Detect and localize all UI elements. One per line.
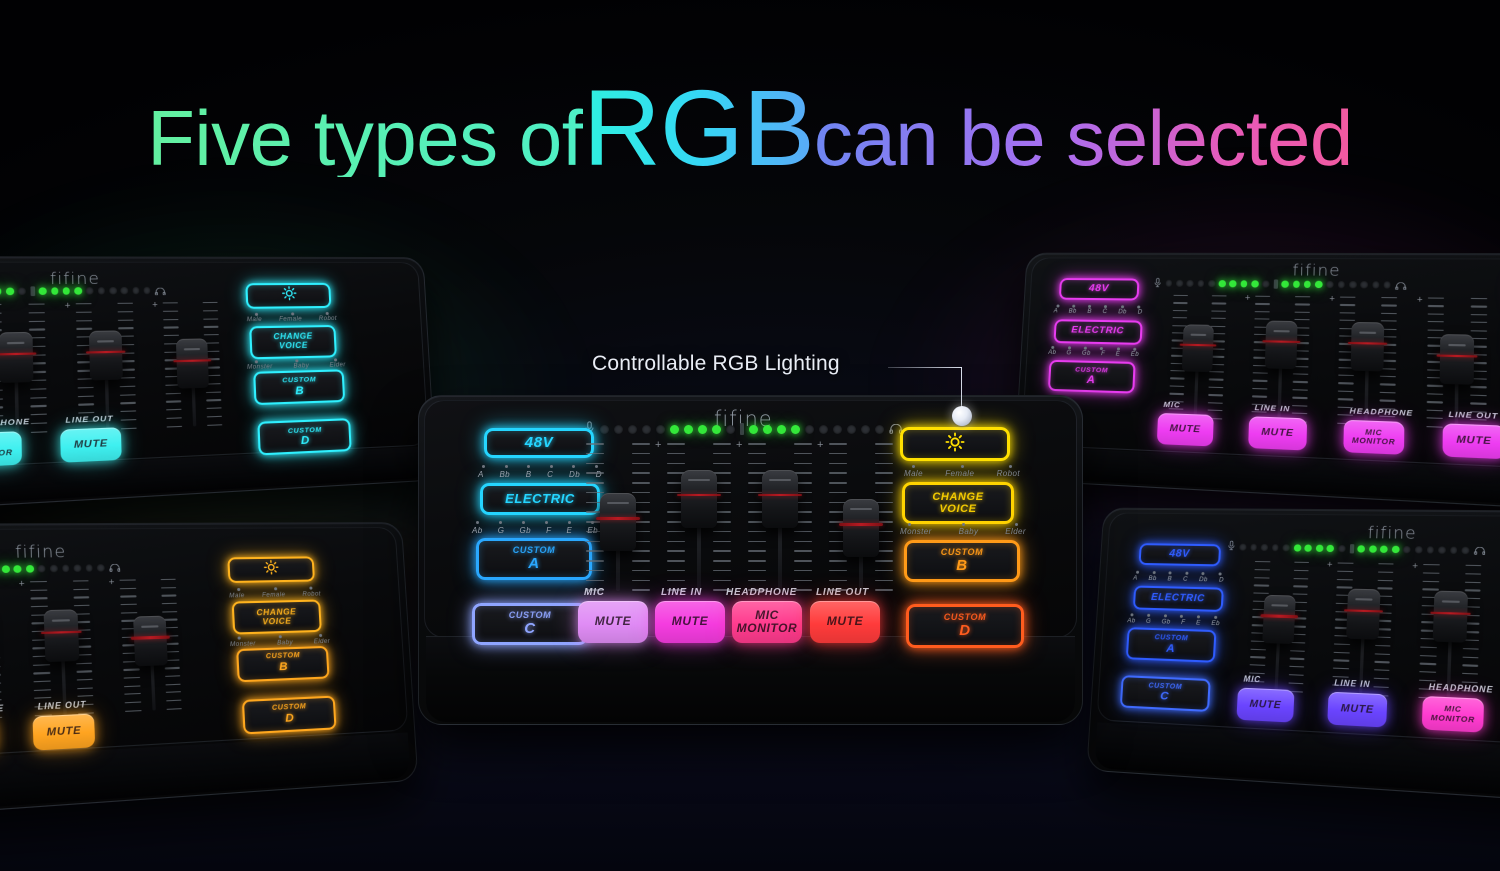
brightness-icon: [263, 559, 281, 581]
mute-button-3[interactable]: MUTE: [810, 601, 880, 643]
fader-plus-marker: +: [1327, 559, 1333, 569]
top-left-mixer[interactable]: fifine48VELECTRICCUSTOM AABbBCDbDAbGGbFE…: [0, 256, 437, 521]
callout-leader-line-horizontal: [888, 367, 962, 368]
led-segment: [1176, 280, 1183, 287]
led-segment: [1304, 281, 1311, 288]
led-segment: [1293, 281, 1300, 288]
custom-a-letter: A: [528, 556, 539, 573]
custom-d-button[interactable]: CUSTOM D: [906, 604, 1024, 648]
note-label: B: [1167, 575, 1172, 582]
led-segment: [614, 425, 623, 434]
mute-button-1[interactable]: MUTE: [1248, 416, 1307, 451]
led-meter: [584, 421, 903, 437]
voice-label: Monster: [230, 640, 256, 648]
fader-indicator-line: [677, 494, 721, 497]
led-divider: [740, 423, 744, 435]
voice-indicator-dots: [912, 465, 1012, 468]
brightness-icon: [280, 285, 298, 307]
custom-a-word: CUSTOM: [513, 546, 555, 556]
custom-b-word: CUSTOM: [266, 652, 301, 661]
fader-plus-marker: +: [1329, 293, 1335, 303]
channel-label: LINE IN: [1334, 678, 1370, 689]
led-segment: [600, 425, 609, 434]
mute-label: MUTE: [595, 615, 631, 628]
note-label: D: [1138, 310, 1143, 316]
led-segment: [875, 425, 884, 434]
note-label: G: [1146, 617, 1152, 624]
note-label: B: [526, 470, 532, 479]
device-front-face: [426, 636, 1075, 722]
led-segment: [1360, 281, 1368, 288]
note-indicator-dots: [476, 521, 594, 524]
led-segment: [833, 425, 842, 434]
led-segment: [791, 425, 800, 434]
fader-knob[interactable]: [0, 332, 33, 384]
note-label: C: [1183, 576, 1188, 583]
mute-label: MUTE: [74, 438, 108, 451]
custom-d-button[interactable]: CUSTOM D: [258, 419, 352, 456]
custom-c-word: CUSTOM: [1148, 682, 1182, 691]
mute-button-0[interactable]: MUTE: [1157, 413, 1214, 447]
led-segment: [656, 425, 665, 434]
note-label: Ab: [1048, 350, 1056, 356]
led-segment: [74, 287, 82, 294]
led-segment: [1294, 544, 1301, 551]
custom-a-word: CUSTOM: [1154, 634, 1188, 643]
led-segment: [847, 425, 856, 434]
note-label: G: [498, 526, 505, 535]
custom-a-word: CUSTOM: [1075, 366, 1108, 374]
custom-d-letter: D: [959, 623, 970, 640]
mute-label: MUTE: [1456, 435, 1491, 448]
note-label: D: [1219, 576, 1224, 583]
custom-b-button[interactable]: CUSTOM B: [904, 540, 1020, 582]
headphone-icon: [154, 284, 166, 298]
custom-d-button[interactable]: CUSTOM D: [241, 695, 337, 734]
voice-label: Monster: [247, 364, 273, 371]
mic-monitor-button[interactable]: MICMONITOR: [1422, 696, 1484, 733]
brand-logo: fifine: [15, 542, 67, 562]
fader-knob[interactable]: [1347, 589, 1381, 640]
led-segment: [1240, 280, 1247, 287]
fader-plus-marker: +: [1412, 560, 1418, 571]
note-label: Gb: [519, 526, 530, 535]
custom-b-letter: B: [295, 384, 305, 397]
led-segment: [805, 425, 814, 434]
led-segment: [132, 287, 140, 294]
fader-knob[interactable]: [1440, 334, 1474, 385]
change-voice-button[interactable]: CHANGE VOICE: [231, 600, 321, 635]
note-label: E: [1196, 619, 1201, 626]
led-segment: [50, 565, 58, 572]
custom-b-letter: B: [956, 558, 967, 575]
note-label: Db: [1199, 576, 1208, 583]
phantom-power-label: 48V: [525, 435, 554, 452]
led-segment: [1462, 547, 1470, 554]
led-segment: [698, 425, 707, 434]
led-segment: [763, 425, 772, 434]
led-segment: [1261, 544, 1268, 551]
mute-label: MUTE: [47, 725, 82, 739]
fader-indicator-line: [596, 517, 640, 520]
headline-emphasis: RGB: [583, 74, 814, 182]
voice-label: Male: [229, 591, 245, 599]
electric-label: ELECTRIC: [1071, 326, 1124, 338]
led-segment: [1349, 281, 1356, 288]
electric-label: ELECTRIC: [1151, 592, 1205, 604]
custom-c-button[interactable]: CUSTOM C: [1120, 675, 1211, 712]
fader-bank: +++: [0, 578, 201, 725]
change-voice-line-1: CHANGE: [932, 491, 983, 503]
voice-label: Baby: [277, 639, 293, 647]
brightness-icon: [944, 431, 966, 458]
led-segment: [85, 564, 93, 571]
led-divider: [1273, 280, 1278, 289]
mute-button-0[interactable]: MUTE: [578, 601, 648, 643]
led-segment: [1338, 281, 1345, 288]
note-label: C: [1102, 309, 1107, 315]
fader-knob[interactable]: [681, 470, 717, 528]
headphone-icon: [109, 561, 121, 575]
note-label: B: [1087, 309, 1092, 315]
fader-knob[interactable]: [44, 610, 79, 662]
led-segment: [1197, 280, 1204, 287]
led-divider: [1349, 544, 1354, 553]
led-segment: [1327, 545, 1334, 552]
note-label: Gb: [1082, 350, 1091, 356]
note-label: Bb: [1068, 309, 1076, 315]
led-segment: [86, 287, 94, 294]
custom-a-letter: A: [1166, 642, 1176, 655]
change-voice-line-2: VOICE: [279, 342, 308, 352]
led-segment: [726, 425, 735, 434]
custom-b-button[interactable]: CUSTOM B: [236, 645, 330, 681]
voice-label-row: MonsterBabyElder: [900, 527, 1026, 536]
led-meter: [1153, 277, 1407, 292]
led-segment: [1305, 545, 1312, 552]
led-segment: [1281, 281, 1288, 288]
top-right-mixer[interactable]: fifine48VELECTRICCUSTOM AABbBCDbDAbGGbFE…: [1013, 253, 1500, 520]
led-segment: [51, 288, 59, 295]
led-segment: [819, 425, 828, 434]
led-segment: [1358, 545, 1366, 552]
phantom-power-button[interactable]: 48V: [484, 428, 594, 458]
electric-button[interactable]: ELECTRIC: [1053, 319, 1142, 345]
headline-part-1: Five types of: [147, 99, 583, 177]
fader-knob[interactable]: [1182, 324, 1214, 372]
fader-plus-marker: +: [19, 578, 25, 589]
channel-label: LINE OUT: [1448, 409, 1498, 421]
custom-c-letter: C: [524, 621, 535, 638]
led-segment: [1272, 544, 1279, 551]
mic-monitor-button[interactable]: MICMONITOR: [732, 601, 802, 643]
change-voice-line-2: VOICE: [262, 617, 292, 627]
note-label: Bb: [1148, 575, 1157, 582]
voice-label: Baby: [293, 363, 309, 370]
fader-plus-marker: +: [1417, 294, 1423, 305]
led-segment: [1403, 546, 1411, 553]
voice-label-row: MaleFemaleRobot: [904, 469, 1020, 478]
led-segment: [1283, 544, 1290, 551]
headphone-icon: [1473, 544, 1485, 558]
voice-indicator-dots: [908, 523, 1018, 526]
note-label: A: [1133, 575, 1138, 582]
mute-label: MUTE: [1169, 424, 1201, 436]
fader-indicator-line: [758, 494, 802, 497]
led-segment: [2, 565, 10, 572]
mic-icon: [1227, 540, 1236, 553]
note-label: Bb: [499, 470, 510, 479]
note-label-row: AbGGbFEEb: [472, 526, 598, 535]
voice-label: Robot: [997, 469, 1020, 478]
voice-label: Male: [904, 469, 923, 478]
fader-knob[interactable]: [1263, 595, 1296, 645]
led-segment: [1165, 280, 1172, 287]
note-label: E: [567, 526, 573, 535]
led-segment: [1239, 544, 1246, 551]
fader-indicator-line: [839, 523, 883, 526]
mic-monitor-line-2: MONITOR: [1431, 712, 1475, 724]
headline-part-2: can be selected: [814, 99, 1353, 177]
mic-monitor-button[interactable]: MICMONITOR: [1343, 420, 1404, 455]
fader-plus-marker: +: [65, 300, 71, 311]
mute-label: MUTE: [1261, 427, 1294, 440]
led-segment: [1438, 547, 1446, 554]
led-segment: [14, 565, 22, 572]
change-voice-button[interactable]: CHANGE VOICE: [902, 482, 1014, 524]
led-segment: [1380, 546, 1388, 553]
voice-label: Robot: [319, 316, 337, 322]
voice-label: Male: [247, 317, 263, 323]
channel-label: MIC: [1163, 400, 1180, 410]
custom-d-letter: D: [285, 712, 295, 726]
annotation-dot-icon: [952, 406, 972, 426]
rgb-brightness-button[interactable]: [245, 283, 331, 309]
custom-c-letter: C: [1160, 690, 1170, 703]
note-label: Eb: [1131, 352, 1140, 358]
voice-label: Female: [279, 316, 302, 322]
led-segment: [1392, 546, 1400, 553]
rgb-brightness-button[interactable]: [227, 556, 315, 583]
led-segment: [777, 425, 786, 434]
note-label: Eb: [1211, 619, 1220, 626]
fader-knob[interactable]: [89, 330, 123, 381]
led-segment: [39, 288, 47, 295]
fader-knob[interactable]: [762, 470, 798, 528]
custom-d-word: CUSTOM: [288, 426, 322, 435]
note-label: F: [1101, 351, 1105, 357]
led-segment: [670, 425, 679, 434]
mic-monitor-line-2: MONITOR: [0, 447, 13, 459]
mic-monitor-line-2: MONITOR: [1352, 435, 1396, 447]
led-segment: [1208, 280, 1215, 287]
led-segment: [749, 425, 758, 434]
fader-knob[interactable]: [176, 339, 209, 389]
led-segment: [1229, 280, 1236, 287]
mute-label: MUTE: [827, 615, 863, 628]
note-label: Db: [1118, 309, 1127, 315]
phantom-power-button[interactable]: 48V: [1139, 543, 1222, 566]
note-label: F: [546, 526, 551, 535]
fader-knob[interactable]: [134, 615, 168, 666]
voice-label: Monster: [900, 527, 932, 536]
custom-c-word: CUSTOM: [509, 611, 551, 621]
led-segment: [1316, 545, 1323, 552]
voice-label: Elder: [1005, 527, 1026, 536]
mute-label: MUTE: [1341, 703, 1374, 716]
led-segment: [0, 288, 2, 295]
bottom-right-mixer[interactable]: fifine48VELECTRICCUSTOM ACUSTOM CABbBCDb…: [1086, 508, 1500, 820]
mic-monitor-line-1: MIC: [755, 608, 779, 622]
led-meter: [0, 284, 166, 300]
mute-label: MUTE: [672, 615, 708, 628]
led-segment: [1450, 547, 1458, 554]
callout-label: Controllable RGB Lighting: [592, 352, 840, 376]
custom-a-letter: A: [1086, 374, 1095, 387]
led-segment: [62, 565, 70, 572]
change-voice-button[interactable]: CHANGE VOICE: [249, 325, 338, 359]
fader-plus-marker: +: [108, 576, 114, 587]
led-segment: [642, 425, 651, 434]
electric-button[interactable]: ELECTRIC: [1133, 585, 1224, 612]
led-segment: [1383, 281, 1391, 288]
rgb-brightness-button[interactable]: [900, 427, 1010, 461]
fader-plus-marker: +: [152, 299, 158, 310]
headphone-icon: [1395, 278, 1407, 292]
mute-button-3[interactable]: MUTE: [1442, 423, 1500, 459]
note-label: Ab: [472, 526, 483, 535]
note-label-row: ABbBCDbD: [478, 470, 602, 479]
custom-a-button[interactable]: CUSTOM A: [476, 538, 592, 580]
led-segment: [1315, 281, 1322, 288]
note-label: Ab: [1127, 617, 1136, 624]
voice-label: Elder: [329, 362, 345, 369]
fader-knob[interactable]: [843, 499, 879, 557]
channel-label: LINE OUT: [816, 587, 869, 598]
fader-plus-marker: +: [1245, 292, 1251, 302]
fader-bank: +++: [586, 443, 898, 591]
led-segment: [97, 564, 105, 571]
led-segment: [74, 565, 82, 572]
led-segment: [1369, 546, 1377, 553]
note-label: A: [1054, 309, 1059, 315]
led-segment: [1426, 546, 1434, 553]
led-segment: [1415, 546, 1423, 553]
custom-d-letter: D: [301, 434, 311, 447]
center-mixer[interactable]: fifine48VELECTRICCUSTOM ACUSTOM CABbBCDb…: [418, 395, 1083, 725]
custom-b-button[interactable]: CUSTOM B: [253, 370, 345, 405]
led-segment: [18, 288, 26, 295]
led-segment: [712, 425, 721, 434]
led-segment: [1372, 281, 1380, 288]
note-label: E: [1116, 351, 1121, 357]
fader-scale: [0, 582, 3, 719]
channel-label: LINE OUT: [65, 414, 113, 426]
note-label: Gb: [1161, 618, 1170, 625]
led-segment: [1251, 281, 1258, 288]
fader-knob[interactable]: [1351, 322, 1384, 372]
led-segment: [38, 565, 46, 572]
led-segment: [1187, 280, 1194, 287]
led-segment: [861, 425, 870, 434]
custom-d-word: CUSTOM: [944, 613, 986, 623]
channel-label: HEADPHONE: [726, 587, 797, 598]
fader-knob[interactable]: [1265, 321, 1298, 370]
change-voice-line-2: VOICE: [939, 503, 976, 515]
page-title: Five types of RGB can be selected: [0, 74, 1500, 182]
led-segment: [628, 425, 637, 434]
note-indicator-dots: [482, 465, 598, 468]
mute-button-0[interactable]: MUTE: [1236, 688, 1294, 723]
phantom-power-button[interactable]: 48V: [1059, 278, 1140, 300]
channel-label: LINE IN: [661, 587, 702, 598]
mute-button-3[interactable]: MUTE: [32, 713, 95, 750]
led-segment: [109, 287, 117, 294]
mute-button-3[interactable]: MUTE: [60, 427, 121, 463]
phantom-power-label: 48V: [1089, 283, 1110, 294]
led-segment: [1250, 544, 1257, 551]
mic-monitor-line-2: MONITOR: [737, 621, 798, 635]
voice-label: Female: [945, 469, 974, 478]
led-segment: [684, 425, 693, 434]
custom-a-button[interactable]: CUSTOM A: [1126, 627, 1216, 663]
note-label: A: [478, 470, 484, 479]
channel-label: LINE IN: [1254, 403, 1290, 414]
voice-label: Elder: [314, 638, 331, 646]
voice-label: Baby: [959, 527, 979, 536]
electric-button[interactable]: ELECTRIC: [480, 483, 600, 515]
brand-logo: fifine: [1367, 524, 1417, 543]
led-segment: [143, 287, 150, 294]
custom-b-word: CUSTOM: [282, 376, 316, 385]
mic-monitor-button[interactable]: MICMONITOR: [0, 431, 22, 468]
custom-b-word: CUSTOM: [941, 548, 983, 558]
electric-label: ELECTRIC: [505, 492, 575, 506]
led-segment: [98, 287, 106, 294]
channel-label: MIC: [584, 587, 605, 598]
fader-plus-marker: +: [817, 439, 823, 451]
led-segment: [1338, 545, 1346, 552]
fader-plus-marker: +: [655, 439, 661, 451]
led-divider: [30, 286, 35, 296]
fader-plus-marker: +: [736, 439, 742, 451]
note-label: G: [1066, 350, 1071, 356]
voice-label: Robot: [302, 590, 321, 597]
fader-knob[interactable]: [600, 493, 636, 551]
mic-icon: [1153, 277, 1162, 290]
custom-c-button[interactable]: CUSTOM C: [472, 603, 588, 645]
mute-button-1[interactable]: MUTE: [655, 601, 725, 643]
fader-bank: +++: [0, 302, 238, 439]
led-segment: [63, 287, 71, 294]
note-label: F: [1181, 618, 1186, 625]
phantom-power-label: 48V: [1169, 549, 1190, 561]
custom-b-letter: B: [279, 661, 289, 674]
led-segment: [1326, 281, 1333, 288]
note-label: Db: [569, 470, 580, 479]
mute-button-1[interactable]: MUTE: [1327, 692, 1387, 728]
custom-a-button[interactable]: CUSTOM A: [1047, 360, 1135, 394]
note-label: C: [547, 470, 553, 479]
fader-knob[interactable]: [1433, 591, 1468, 643]
led-segment: [121, 287, 129, 294]
led-segment: [6, 288, 14, 295]
voice-label: Female: [262, 591, 286, 599]
channel-label: MIC: [1243, 674, 1261, 684]
mute-label: MUTE: [1249, 699, 1281, 712]
led-segment: [1262, 281, 1269, 288]
led-segment: [26, 565, 34, 572]
